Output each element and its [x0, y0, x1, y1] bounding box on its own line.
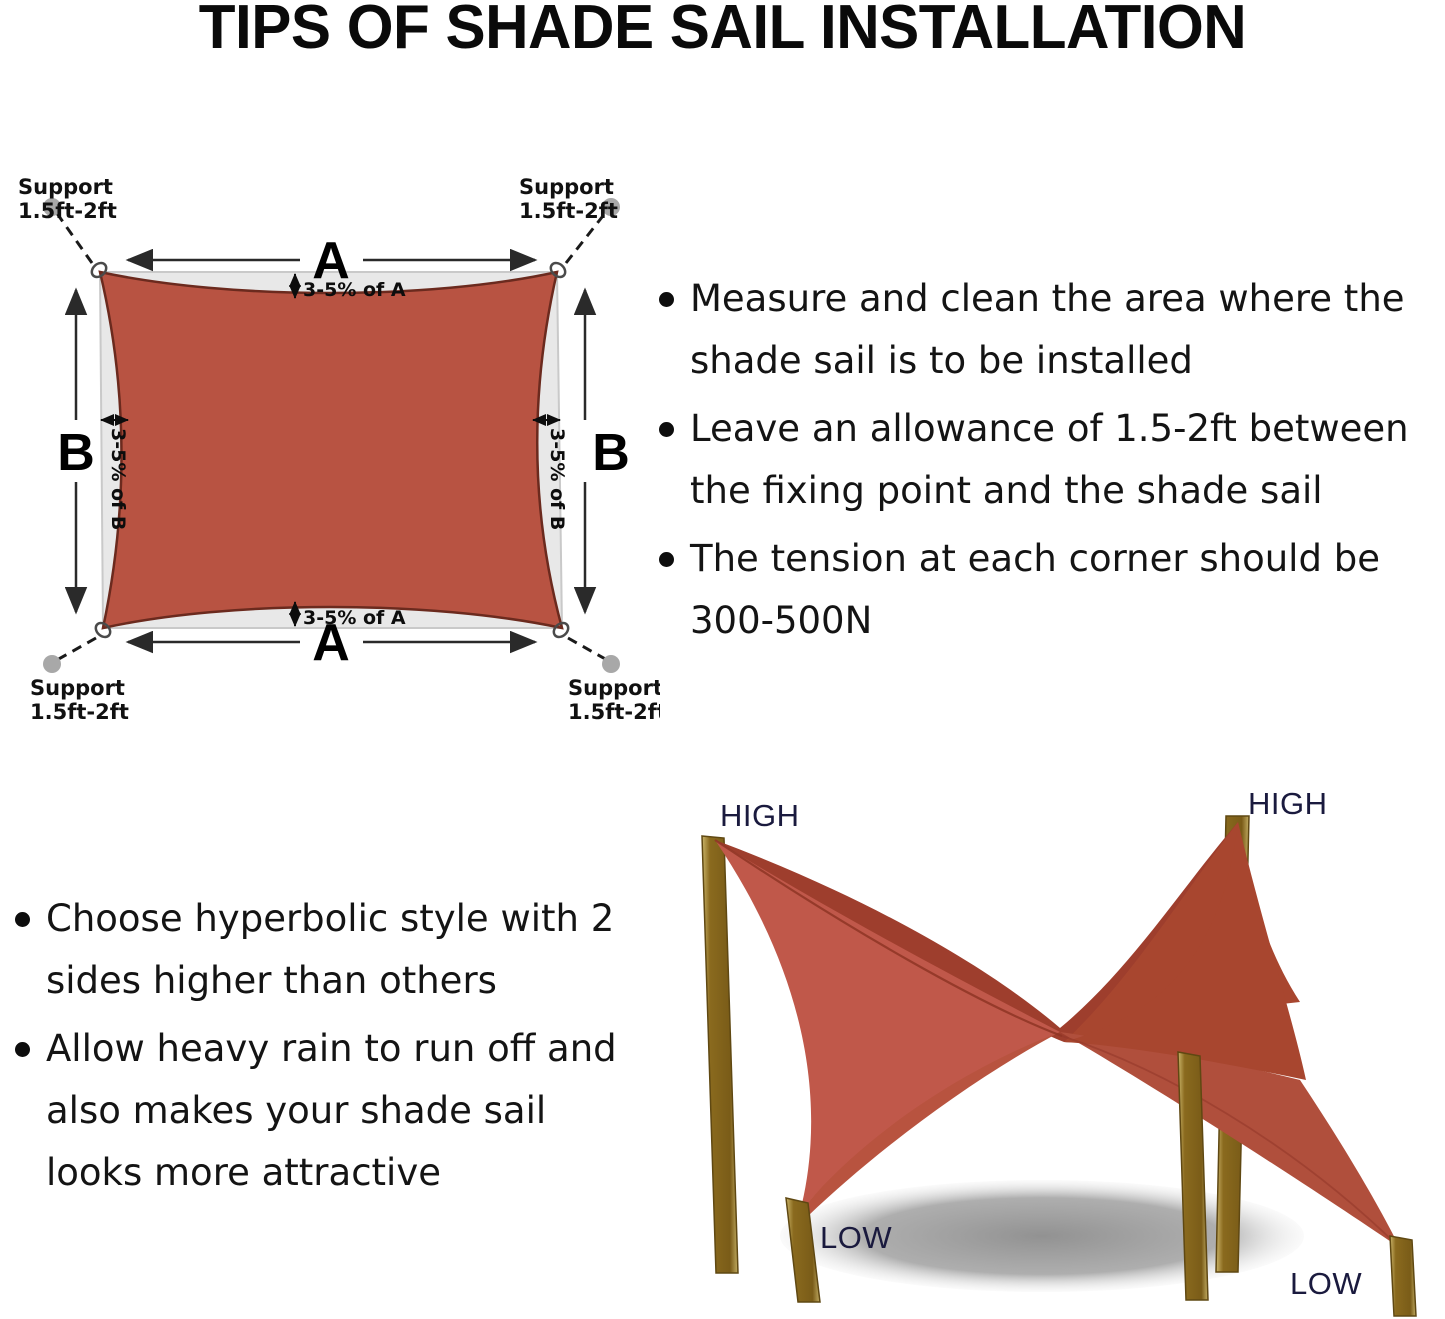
- list-item: Choose hyperbolic style with 2 sides hig…: [4, 888, 634, 1012]
- curve-callout-top: 3-5% of A: [295, 274, 406, 301]
- list-item: Allow heavy rain to run off and also mak…: [4, 1018, 634, 1204]
- list-item: Leave an allowance of 1.5-2ft between th…: [648, 398, 1445, 522]
- installation-tips-top: Measure and clean the area where the sha…: [648, 268, 1445, 658]
- shade-sail-body: [100, 272, 562, 628]
- support-label-line2: 1.5ft-2ft: [30, 700, 129, 724]
- rectangular-sail-diagram: Support 1.5ft-2ft Support 1.5ft-2ft Supp…: [0, 150, 660, 730]
- label-low-left: LOW: [820, 1220, 892, 1255]
- support-label-top-right: Support 1.5ft-2ft: [519, 175, 618, 223]
- top-section: Support 1.5ft-2ft Support 1.5ft-2ft Supp…: [0, 150, 1445, 740]
- support-label-line2: 1.5ft-2ft: [18, 199, 117, 223]
- anchor-dot-bottom-left: [43, 655, 61, 673]
- support-label-line1: Support: [568, 676, 660, 700]
- list-item: Measure and clean the area where the sha…: [648, 268, 1445, 392]
- label-low-right: LOW: [1290, 1266, 1362, 1301]
- support-label-line1: Support: [18, 175, 113, 199]
- hyperbolic-sail-illustration: HIGH HIGH LOW LOW: [660, 780, 1445, 1319]
- label-high-right: HIGH: [1248, 786, 1328, 821]
- support-label-line1: Support: [30, 676, 125, 700]
- installation-tips-bottom: Choose hyperbolic style with 2 sides hig…: [4, 888, 634, 1210]
- support-label-bottom-left: Support 1.5ft-2ft: [30, 676, 129, 724]
- curve-callout-top-label: 3-5% of A: [303, 279, 406, 301]
- dimension-b-left: B: [57, 290, 95, 612]
- anchor-dot-bottom-right: [602, 655, 620, 673]
- support-label-line1: Support: [519, 175, 614, 199]
- dimension-b-right: B: [585, 290, 630, 612]
- list-item: The tension at each corner should be 300…: [648, 528, 1445, 652]
- curve-callout-left-label: 3-5% of B: [107, 428, 129, 530]
- curve-callout-bottom: 3-5% of A: [295, 602, 406, 629]
- support-label-line2: 1.5ft-2ft: [568, 700, 660, 724]
- curve-callout-right-label: 3-5% of B: [546, 428, 568, 530]
- dimension-b-right-label: B: [592, 424, 630, 482]
- support-label-top-left: Support 1.5ft-2ft: [18, 175, 117, 223]
- support-label-bottom-right: Support 1.5ft-2ft: [568, 676, 660, 724]
- support-label-line2: 1.5ft-2ft: [519, 199, 618, 223]
- dimension-b-left-label: B: [57, 424, 95, 482]
- label-high-left: HIGH: [720, 798, 800, 833]
- page-title: TIPS OF SHADE SAIL INSTALLATION: [22, 0, 1424, 60]
- curve-callout-bottom-label: 3-5% of A: [303, 607, 406, 629]
